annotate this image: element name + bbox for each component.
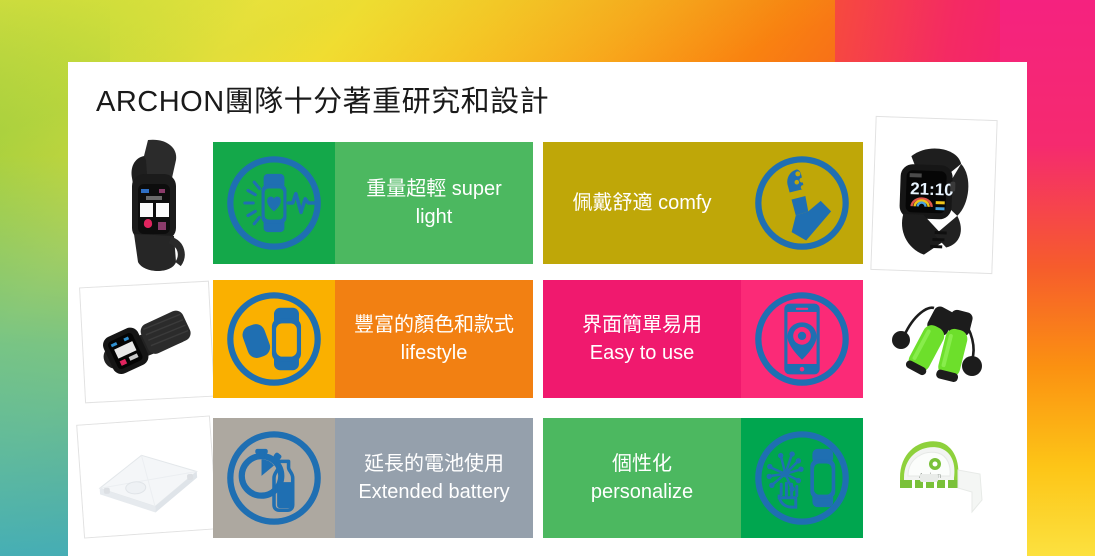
- black-fitness-band-photo: [104, 134, 214, 274]
- icon-pane: [741, 418, 863, 538]
- card-label-en: Extended battery: [358, 481, 509, 503]
- archon-tape-measure-photo: Archon: [876, 422, 1008, 532]
- feature-card-super-light[interactable]: 重量超輕 super light: [213, 142, 533, 264]
- green-jump-rope-photo: [876, 284, 1002, 394]
- text-pane: 佩戴舒適 comfy: [543, 142, 741, 264]
- text-pane: 個性化 personalize: [543, 418, 741, 538]
- svg-text:21:10: 21:10: [910, 179, 954, 200]
- thumbs-up-wristband-icon: [750, 151, 854, 255]
- text-pane: 豐富的顏色和款式 lifestyle: [335, 280, 533, 398]
- black-smartwatch-photo: 21:10: [870, 116, 997, 274]
- smart-network-band-icon: [750, 426, 854, 530]
- icon-pane: [213, 280, 335, 398]
- feature-card-easy-to-use[interactable]: 界面簡單易用 Easy to use: [543, 280, 863, 398]
- smartphone-location-pin-icon: [750, 287, 854, 391]
- feature-card-personalize[interactable]: 個性化 personalize: [543, 418, 863, 538]
- feature-card-extended-battery[interactable]: 延長的電池使用 Extended battery: [213, 418, 533, 538]
- text-pane: 界面簡單易用 Easy to use: [543, 280, 741, 398]
- slide-canvas: ARCHON團隊十分著重研究和設計: [0, 0, 1095, 556]
- card-label-cn: 重量超輕 super: [366, 178, 502, 200]
- feature-card-comfy[interactable]: 佩戴舒適 comfy: [543, 142, 863, 264]
- card-label-cn: 佩戴舒適 comfy: [573, 192, 712, 214]
- page-title: ARCHON團隊十分著重研究和設計: [96, 78, 549, 120]
- card-label-cn: 個性化: [612, 453, 672, 475]
- card-label-cn: 延長的電池使用: [364, 453, 504, 475]
- white-body-scale-photo: [76, 415, 218, 538]
- card-label-en: light: [416, 206, 453, 228]
- content-panel: ARCHON團隊十分著重研究和設計: [68, 62, 1027, 556]
- card-label-cn: 界面簡單易用: [582, 314, 702, 336]
- icon-pane: [741, 280, 863, 398]
- icon-pane: [213, 142, 335, 264]
- stopwatch-battery-icon: [222, 426, 326, 530]
- card-label-en: personalize: [591, 481, 693, 503]
- card-label-en: Easy to use: [590, 342, 695, 364]
- icon-pane: [741, 142, 863, 264]
- card-label-en: lifestyle: [401, 342, 468, 364]
- two-bands-colors-icon: [222, 287, 326, 391]
- text-pane: 重量超輕 super light: [335, 142, 533, 264]
- text-pane: 延長的電池使用 Extended battery: [335, 418, 533, 538]
- feature-card-lifestyle[interactable]: 豐富的顏色和款式 lifestyle: [213, 280, 533, 398]
- textured-strap-band-photo: [79, 281, 215, 404]
- icon-pane: [213, 418, 335, 538]
- card-label-cn: 豐富的顏色和款式: [354, 314, 514, 336]
- fitness-band-heartbeat-icon: [222, 151, 326, 255]
